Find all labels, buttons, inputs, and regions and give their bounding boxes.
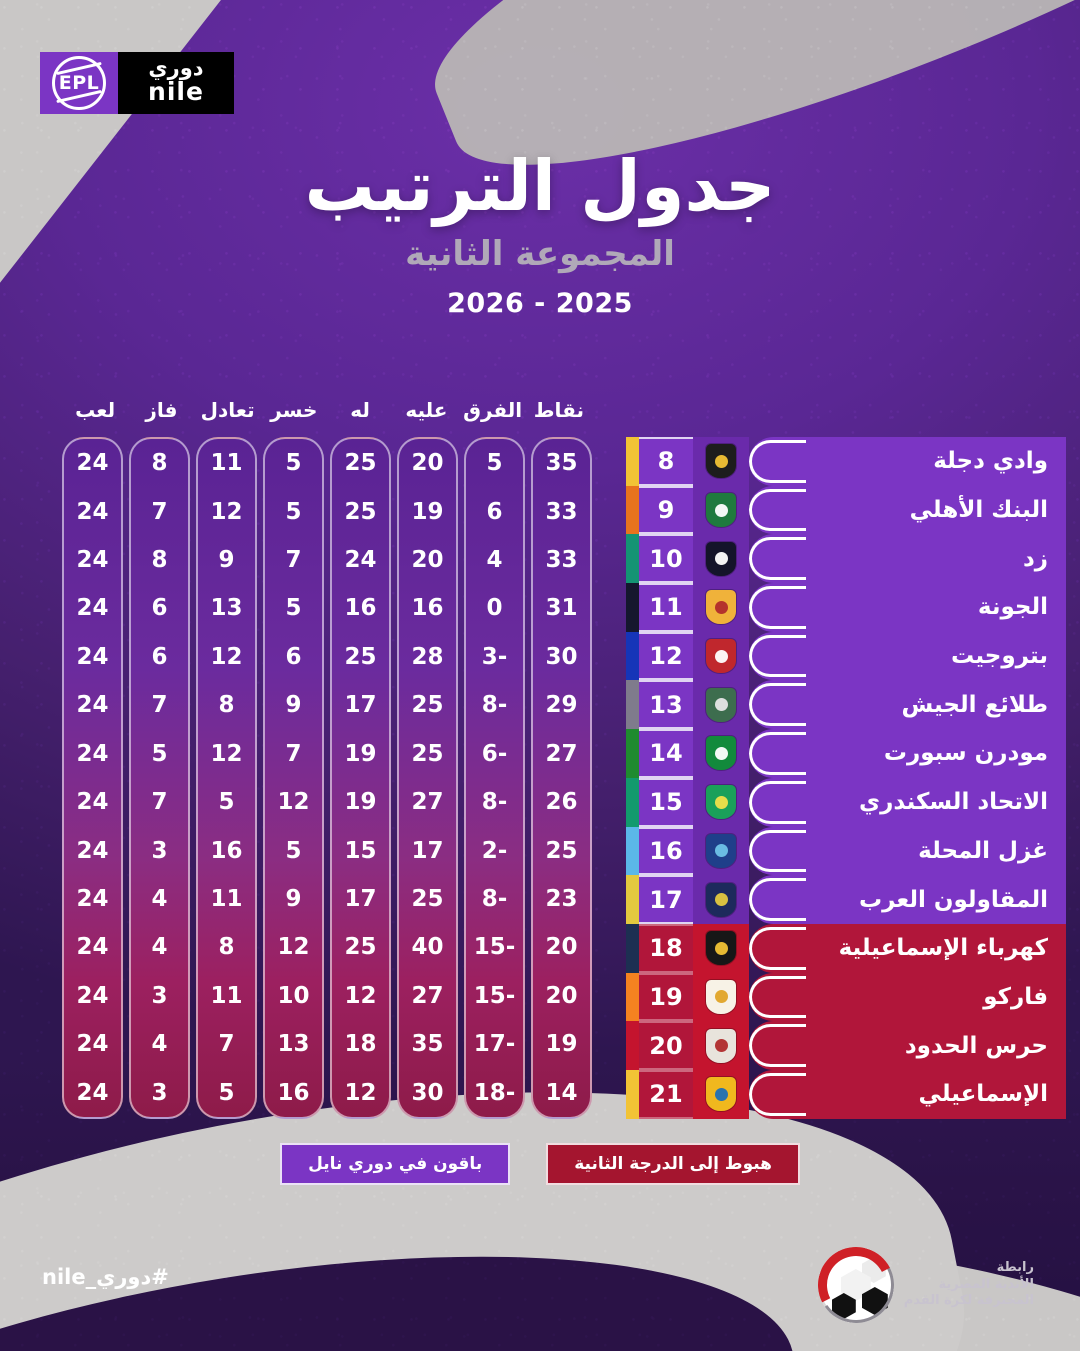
stat-cell: 31 — [533, 584, 590, 632]
table-row[interactable]: زد10 — [626, 534, 1066, 583]
stat-cell: 11 — [198, 875, 255, 923]
stat-header-won: فاز — [128, 398, 194, 422]
stat-cell: 18 — [332, 1020, 389, 1068]
stat-cell: 24 — [64, 923, 121, 971]
stat-cell: 19 — [533, 1020, 590, 1068]
team-rank-cell: 8 — [639, 437, 693, 486]
team-name-cell: وادي دجلة — [749, 437, 1066, 486]
stat-cell: 27 — [399, 972, 456, 1020]
stat-cell: 25 — [332, 439, 389, 487]
team-name-cell: غزل المحلة — [749, 827, 1066, 876]
team-badge-cell — [693, 534, 749, 583]
page-subtitle: المجموعة الثانية — [0, 234, 1080, 274]
stat-header-played: لعب — [62, 398, 128, 422]
stat-cell: 12 — [265, 923, 322, 971]
stat-cell: 35 — [533, 439, 590, 487]
team-rank-cell: 14 — [639, 729, 693, 778]
team-badge-cell — [693, 924, 749, 973]
legend-relegation[interactable]: هبوط إلى الدرجة الثانية — [546, 1143, 800, 1185]
stat-cell: 8 — [131, 439, 188, 487]
stat-cell: 6 — [466, 487, 523, 535]
stat-column-won: 87866757344343 — [129, 437, 190, 1119]
stat-header-ga: عليه — [393, 398, 459, 422]
team-accent-bar — [626, 729, 639, 778]
stat-cell: 4 — [131, 923, 188, 971]
epl-logo: EPL — [40, 52, 118, 114]
stat-column-draw: 1112913128125161181175 — [196, 437, 257, 1119]
team-accent-bar — [626, 875, 639, 924]
stat-cell: 7 — [265, 536, 322, 584]
stat-cell: 7 — [131, 681, 188, 729]
team-badge-cell — [693, 437, 749, 486]
team-name-cell: المقاولون العرب — [749, 875, 1066, 924]
stat-cell: 20 — [533, 972, 590, 1020]
stat-cell: 24 — [64, 778, 121, 826]
stat-cell: 8- — [466, 681, 523, 729]
federation-line-1: رابطة — [904, 1260, 1034, 1277]
team-name-label: زد — [1023, 546, 1048, 572]
stat-cell: 7 — [265, 730, 322, 778]
team-accent-bar — [626, 1021, 639, 1070]
stat-cell: 19 — [399, 487, 456, 535]
stat-cell: 8 — [198, 923, 255, 971]
stat-header-lost: خسر — [261, 398, 327, 422]
stat-cell: 24 — [64, 1068, 121, 1116]
team-crest-icon — [706, 444, 736, 478]
page-title: جدول الترتيب — [0, 150, 1080, 224]
team-crest-icon — [706, 493, 736, 527]
stat-cell: 9 — [198, 536, 255, 584]
stat-cell: 33 — [533, 536, 590, 584]
team-rank-cell: 10 — [639, 534, 693, 583]
team-rank-cell: 17 — [639, 875, 693, 924]
team-crest-icon — [706, 883, 736, 917]
stat-header-draw: تعادل — [195, 398, 261, 422]
team-name-cell: حرس الحدود — [749, 1021, 1066, 1070]
stat-cell: 17 — [332, 681, 389, 729]
stats-table: 353333313029272625232020191456403-8-6-8-… — [62, 437, 592, 1119]
stat-cell: 6 — [131, 633, 188, 681]
team-rank-cell: 16 — [639, 827, 693, 876]
team-accent-bar — [626, 827, 639, 876]
stat-header-gf: له — [327, 398, 393, 422]
team-name-cell: البنك الأهلي — [749, 486, 1066, 535]
team-badge-cell — [693, 1021, 749, 1070]
stat-cell: 3 — [131, 972, 188, 1020]
stat-cell: 30 — [533, 633, 590, 681]
stat-cell: 25 — [332, 923, 389, 971]
team-rank-cell: 21 — [639, 1070, 693, 1119]
federation-logo: رابطة الأندية المصرية المحترفة لكرة القد… — [818, 1247, 1034, 1323]
stat-cell: 6 — [131, 584, 188, 632]
stat-cell: 24 — [64, 439, 121, 487]
stat-cell: 11 — [198, 439, 255, 487]
stat-column-points: 3533333130292726252320201914 — [531, 437, 592, 1119]
stat-column-gd: 56403-8-6-8-2-8-15-15-17-18- — [464, 437, 525, 1119]
stat-cell: 12 — [198, 487, 255, 535]
stat-cell: 8- — [466, 778, 523, 826]
stat-cell: 16 — [332, 584, 389, 632]
stat-cell: 20 — [533, 923, 590, 971]
stat-header-gd: الفرق — [460, 398, 526, 422]
stat-cell: 0 — [466, 584, 523, 632]
stat-cell: 16 — [265, 1068, 322, 1116]
team-accent-bar — [626, 486, 639, 535]
stat-cell: 24 — [64, 875, 121, 923]
stat-cell: 5 — [198, 778, 255, 826]
team-crest-icon — [706, 1077, 736, 1111]
table-row[interactable]: حرس الحدود20 — [626, 1021, 1066, 1070]
team-accent-bar — [626, 973, 639, 1022]
hashtag-label: #دوري_nile — [42, 1265, 169, 1289]
team-crest-icon — [706, 688, 736, 722]
team-name-label: الإسماعيلي — [919, 1081, 1048, 1107]
football-icon — [818, 1247, 894, 1323]
stat-cell: 5 — [265, 487, 322, 535]
team-name-cell: زد — [749, 534, 1066, 583]
stat-cell: 24 — [332, 536, 389, 584]
stat-cell: 24 — [64, 1020, 121, 1068]
stat-cell: 12 — [198, 730, 255, 778]
table-row[interactable]: طلائع الجيش13 — [626, 680, 1066, 729]
team-badge-cell — [693, 632, 749, 681]
stat-cell: 10 — [265, 972, 322, 1020]
table-row[interactable]: غزل المحلة16 — [626, 827, 1066, 876]
team-rank-cell: 18 — [639, 924, 693, 973]
team-crest-icon — [706, 1029, 736, 1063]
team-name-label: البنك الأهلي — [910, 497, 1048, 523]
team-name-label: فاركو — [983, 984, 1048, 1010]
stat-cell: 25 — [399, 681, 456, 729]
brand-logo-bar: EPL دوري nile — [40, 52, 234, 114]
table-row[interactable]: مودرن سبورت14 — [626, 729, 1066, 778]
stats-header-row: نقاطالفرقعليهلهخسرتعادلفازلعب — [62, 398, 592, 422]
stat-cell: 15 — [332, 826, 389, 874]
stat-cell: 12 — [332, 972, 389, 1020]
stat-cell: 9 — [265, 681, 322, 729]
epl-ball-icon: EPL — [52, 56, 106, 110]
team-name-label: كهرباء الإسماعيلية — [839, 935, 1048, 961]
stat-cell: 17- — [466, 1020, 523, 1068]
nile-logo: دوري nile — [118, 52, 234, 114]
stat-cell: 13 — [198, 584, 255, 632]
stat-cell: 24 — [64, 536, 121, 584]
team-name-cell: مودرن سبورت — [749, 729, 1066, 778]
team-rank-cell: 19 — [639, 973, 693, 1022]
stat-cell: 25 — [332, 633, 389, 681]
team-accent-bar — [626, 778, 639, 827]
stat-cell: 24 — [64, 681, 121, 729]
stat-cell: 12 — [198, 633, 255, 681]
stat-cell: 17 — [399, 826, 456, 874]
stat-cell: 18- — [466, 1068, 523, 1116]
stat-cell: 15- — [466, 923, 523, 971]
stat-cell: 3 — [131, 1068, 188, 1116]
stat-cell: 24 — [64, 584, 121, 632]
team-rank-cell: 9 — [639, 486, 693, 535]
team-crest-icon — [706, 980, 736, 1014]
stat-cell: 8- — [466, 875, 523, 923]
stat-cell: 19 — [332, 778, 389, 826]
table-row[interactable]: الجونة11 — [626, 583, 1066, 632]
stat-cell: 5 — [131, 730, 188, 778]
legend: هبوط إلى الدرجة الثانية باقون في دوري نا… — [0, 1143, 1080, 1185]
nile-arabic-label: دوري — [148, 58, 203, 79]
team-name-label: وادي دجلة — [933, 448, 1048, 474]
stat-column-played: 2424242424242424242424242424 — [62, 437, 123, 1119]
stat-cell: 17 — [332, 875, 389, 923]
stat-column-ga: 2019201628252527172540273530 — [397, 437, 458, 1119]
stat-column-lost: 5575697125912101316 — [263, 437, 324, 1119]
stat-cell: 9 — [265, 875, 322, 923]
stat-cell: 29 — [533, 681, 590, 729]
team-badge-cell — [693, 729, 749, 778]
team-name-cell: الجونة — [749, 583, 1066, 632]
stat-cell: 25 — [399, 730, 456, 778]
title-block: جدول الترتيب المجموعة الثانية 2026 - 202… — [0, 150, 1080, 319]
team-crest-icon — [706, 542, 736, 576]
federation-line-3: المحترفة لكرة القدم — [904, 1293, 1034, 1310]
stat-cell: 23 — [533, 875, 590, 923]
team-name-label: طلائع الجيش — [902, 692, 1048, 718]
team-name-cell: كهرباء الإسماعيلية — [749, 924, 1066, 973]
stat-cell: 12 — [265, 778, 322, 826]
table-row[interactable]: كهرباء الإسماعيلية18 — [626, 924, 1066, 973]
team-crest-icon — [706, 639, 736, 673]
federation-line-2: الأندية المصرية — [904, 1277, 1034, 1294]
stat-cell: 24 — [64, 633, 121, 681]
stat-cell: 25 — [533, 826, 590, 874]
team-badge-cell — [693, 827, 749, 876]
stat-cell: 35 — [399, 1020, 456, 1068]
legend-stay[interactable]: باقون في دوري نايل — [280, 1143, 510, 1185]
nile-english-label: nile — [148, 79, 204, 105]
stat-cell: 26 — [533, 778, 590, 826]
stat-cell: 27 — [533, 730, 590, 778]
stat-column-gf: 2525241625171919151725121812 — [330, 437, 391, 1119]
team-accent-bar — [626, 680, 639, 729]
stat-cell: 5 — [198, 1068, 255, 1116]
team-name-cell: الإسماعيلي — [749, 1070, 1066, 1119]
team-crest-icon — [706, 931, 736, 965]
team-name-label: الجونة — [978, 594, 1048, 620]
stat-cell: 40 — [399, 923, 456, 971]
stat-header-points: نقاط — [526, 398, 592, 422]
federation-text: رابطة الأندية المصرية المحترفة لكرة القد… — [904, 1260, 1034, 1310]
stat-cell: 12 — [332, 1068, 389, 1116]
stat-cell: 5 — [265, 584, 322, 632]
team-badge-cell — [693, 778, 749, 827]
team-badge-cell — [693, 875, 749, 924]
team-badge-cell — [693, 973, 749, 1022]
stat-cell: 24 — [64, 972, 121, 1020]
stat-cell: 3 — [131, 826, 188, 874]
table-row[interactable]: فاركو19 — [626, 973, 1066, 1022]
team-badge-cell — [693, 1070, 749, 1119]
team-crest-icon — [706, 736, 736, 770]
stat-cell: 5 — [466, 439, 523, 487]
stat-cell: 8 — [198, 681, 255, 729]
stat-cell: 16 — [399, 584, 456, 632]
stat-cell: 20 — [399, 439, 456, 487]
stat-cell: 27 — [399, 778, 456, 826]
table-row[interactable]: وادي دجلة8 — [626, 437, 1066, 486]
team-crest-icon — [706, 834, 736, 868]
stat-cell: 3- — [466, 633, 523, 681]
table-row[interactable]: المقاولون العرب17 — [626, 875, 1066, 924]
team-rank-cell: 15 — [639, 778, 693, 827]
team-badge-cell — [693, 486, 749, 535]
team-rank-cell: 11 — [639, 583, 693, 632]
team-accent-bar — [626, 1070, 639, 1119]
team-name-cell: طلائع الجيش — [749, 680, 1066, 729]
team-name-label: مودرن سبورت — [884, 740, 1048, 766]
stat-cell: 2- — [466, 826, 523, 874]
team-name-label: حرس الحدود — [905, 1033, 1048, 1059]
stat-cell: 28 — [399, 633, 456, 681]
team-name-label: الاتحاد السكندري — [859, 789, 1048, 815]
stat-cell: 33 — [533, 487, 590, 535]
stat-cell: 4 — [466, 536, 523, 584]
team-name-label: غزل المحلة — [918, 838, 1048, 864]
team-accent-bar — [626, 583, 639, 632]
team-crest-icon — [706, 590, 736, 624]
stat-cell: 20 — [399, 536, 456, 584]
team-rank-cell: 12 — [639, 632, 693, 681]
team-name-cell: فاركو — [749, 973, 1066, 1022]
stat-cell: 14 — [533, 1068, 590, 1116]
stat-cell: 19 — [332, 730, 389, 778]
team-accent-bar — [626, 632, 639, 681]
stat-cell: 8 — [131, 536, 188, 584]
stat-cell: 16 — [198, 826, 255, 874]
team-badge-cell — [693, 583, 749, 632]
stat-cell: 7 — [131, 487, 188, 535]
stat-cell: 24 — [64, 826, 121, 874]
stat-cell: 6 — [265, 633, 322, 681]
team-rank-cell: 20 — [639, 1021, 693, 1070]
stat-cell: 4 — [131, 1020, 188, 1068]
epl-label: EPL — [52, 56, 106, 110]
stat-cell: 7 — [131, 778, 188, 826]
stat-cell: 5 — [265, 826, 322, 874]
team-accent-bar — [626, 534, 639, 583]
table-row[interactable]: الإسماعيلي21 — [626, 1070, 1066, 1119]
team-name-label: المقاولون العرب — [859, 887, 1048, 913]
table-row[interactable]: الاتحاد السكندري15 — [626, 778, 1066, 827]
team-badge-cell — [693, 680, 749, 729]
stat-cell: 6- — [466, 730, 523, 778]
stat-cell: 7 — [198, 1020, 255, 1068]
season-label: 2026 - 2025 — [0, 288, 1080, 319]
stat-cell: 13 — [265, 1020, 322, 1068]
team-name-label: بتروجيت — [951, 643, 1048, 669]
team-rank-cell: 13 — [639, 680, 693, 729]
team-crest-icon — [706, 785, 736, 819]
team-accent-bar — [626, 924, 639, 973]
stat-cell: 24 — [64, 487, 121, 535]
table-row[interactable]: بتروجيت12 — [626, 632, 1066, 681]
team-name-cell: بتروجيت — [749, 632, 1066, 681]
team-accent-bar — [626, 437, 639, 486]
stat-cell: 25 — [399, 875, 456, 923]
team-name-cell: الاتحاد السكندري — [749, 778, 1066, 827]
standings-team-list: وادي دجلة8البنك الأهلي9زد10الجونة11بتروج… — [626, 437, 1066, 1119]
stat-cell: 11 — [198, 972, 255, 1020]
stat-cell: 30 — [399, 1068, 456, 1116]
stat-cell: 25 — [332, 487, 389, 535]
table-row[interactable]: البنك الأهلي9 — [626, 486, 1066, 535]
stat-cell: 15- — [466, 972, 523, 1020]
stat-cell: 5 — [265, 439, 322, 487]
stat-cell: 4 — [131, 875, 188, 923]
stat-cell: 24 — [64, 730, 121, 778]
